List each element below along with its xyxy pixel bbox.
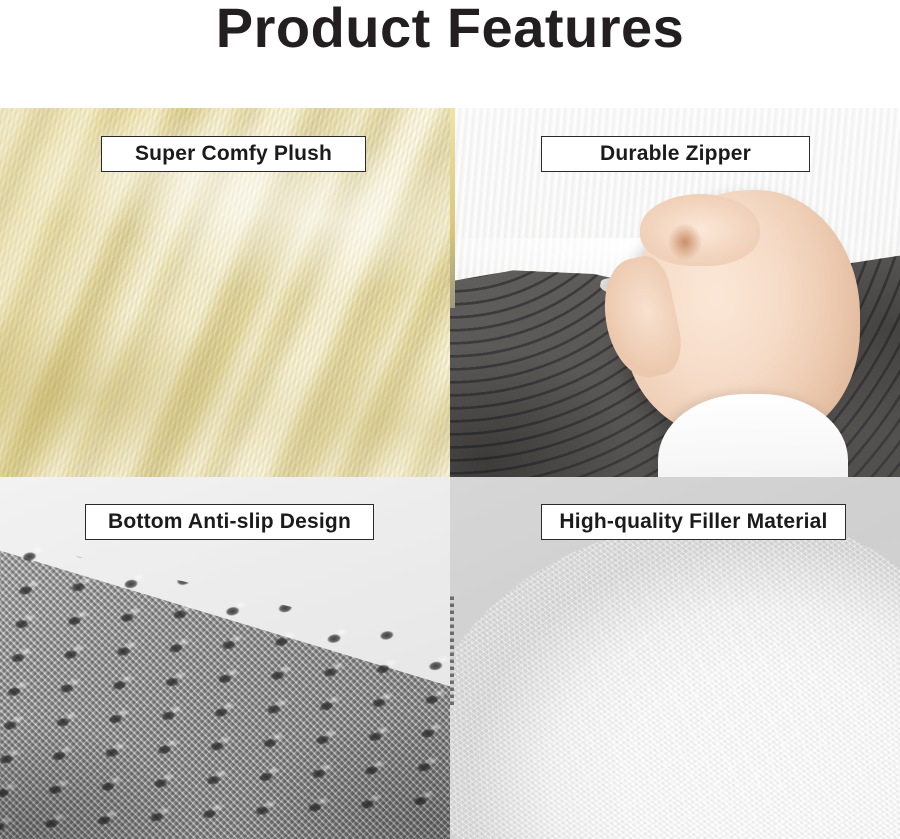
feature-cell-durable-zipper: Durable Zipper xyxy=(450,108,900,477)
page-title: Product Features xyxy=(216,0,685,60)
feature-label-durable-zipper: Durable Zipper xyxy=(541,136,810,172)
left-edge-sliver xyxy=(450,595,454,705)
feature-cell-super-comfy-plush: Super Comfy Plush xyxy=(0,108,450,477)
feature-cell-bottom-anti-slip-design: Bottom Anti-slip Design xyxy=(0,477,450,839)
title-bar: Product Features xyxy=(0,0,900,108)
feature-label-high-quality-filler-material: High-quality Filler Material xyxy=(541,504,846,540)
feature-cell-high-quality-filler-material: High-quality Filler Material xyxy=(450,477,900,839)
finger-gap-shadow xyxy=(664,220,706,264)
product-features-infographic: Product Features Super Comfy Plush Dura xyxy=(0,0,900,839)
feature-label-super-comfy-plush: Super Comfy Plush xyxy=(101,136,366,172)
feature-grid: Super Comfy Plush Durable Zipper xyxy=(0,108,900,839)
feature-label-bottom-anti-slip-design: Bottom Anti-slip Design xyxy=(85,504,374,540)
yellow-edge-sliver xyxy=(450,108,455,308)
